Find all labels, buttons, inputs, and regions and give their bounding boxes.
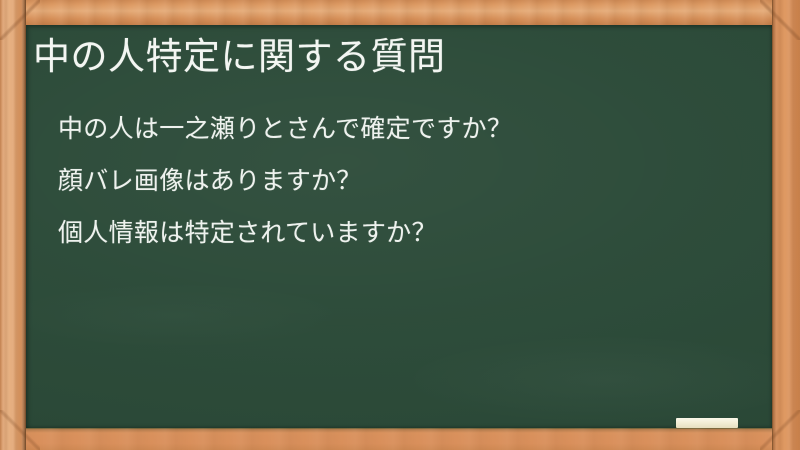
frame-rail-left xyxy=(0,0,26,450)
board-question-line: 中の人は一之瀬りとさんで確定ですか？ xyxy=(58,103,748,155)
frame-ledge-bottom xyxy=(0,428,800,450)
board-question-list: 中の人は一之瀬りとさんで確定ですか？ 顔バレ画像はありますか？ 個人情報は特定さ… xyxy=(58,103,748,259)
frame-rail-top xyxy=(0,0,800,26)
board-title: 中の人特定に関する質問 xyxy=(33,36,446,79)
board-question-line: 顔バレ画像はありますか？ xyxy=(58,155,748,207)
chalk-stick-icon xyxy=(676,418,738,428)
slide-screenshot: 中の人特定に関する質問 中の人は一之瀬りとさんで確定ですか？ 顔バレ画像はありま… xyxy=(0,0,800,450)
board-question-line: 個人情報は特定されていますか？ xyxy=(58,207,748,259)
frame-rail-right xyxy=(772,0,800,450)
chalkboard-surface: 中の人特定に関する質問 中の人は一之瀬りとさんで確定ですか？ 顔バレ画像はありま… xyxy=(26,25,772,428)
